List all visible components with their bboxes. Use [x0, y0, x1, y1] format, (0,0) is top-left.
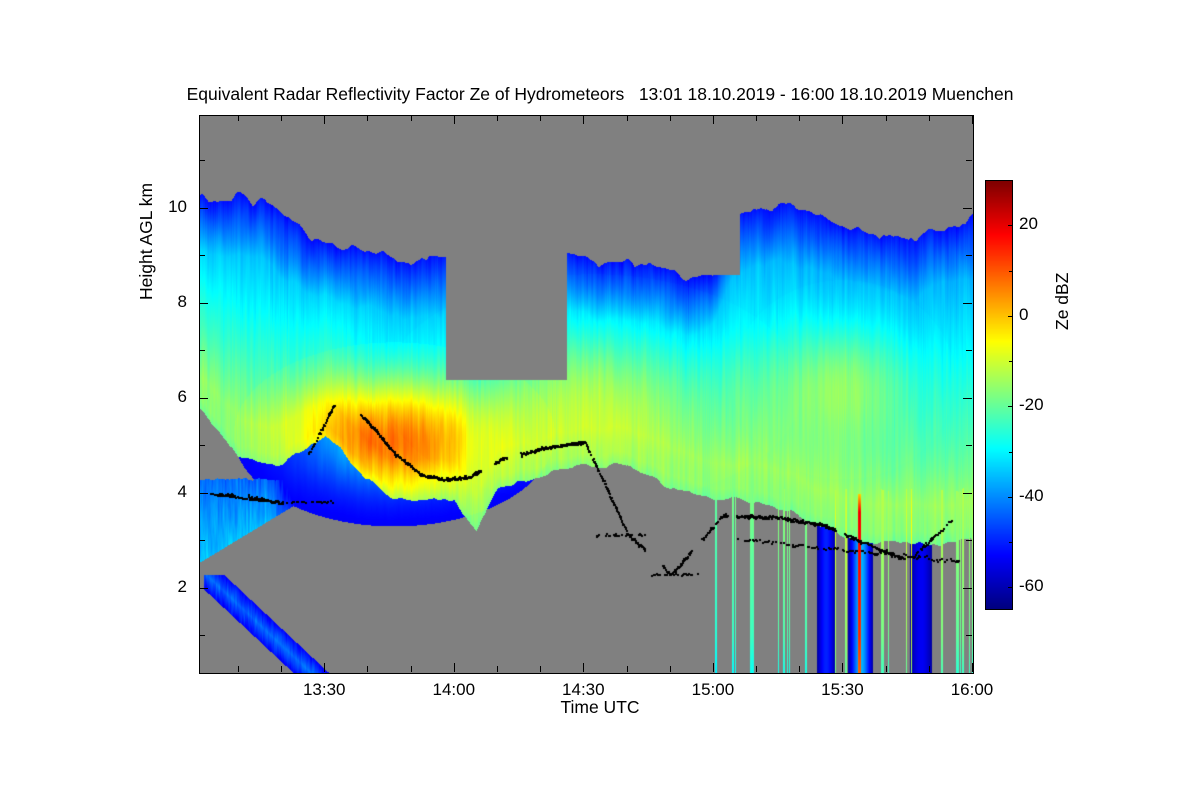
- y-tick-major: [199, 208, 208, 209]
- x-tick-minor: [670, 666, 671, 672]
- x-tick-minor: [756, 666, 757, 672]
- colorbar-tick-minor: [1009, 271, 1013, 272]
- y-tick-minor: [199, 160, 205, 161]
- y-tick-minor: [199, 445, 205, 446]
- x-tick-minor: [411, 115, 412, 121]
- x-tick-minor: [497, 115, 498, 121]
- x-tick-minor: [497, 666, 498, 672]
- colorbar-tick-minor: [1009, 180, 1013, 181]
- y-tick-major: [199, 493, 208, 494]
- y-tick-minor: [966, 350, 972, 351]
- x-tick-minor: [367, 115, 368, 121]
- y-tick-minor: [199, 540, 205, 541]
- x-tick-minor: [670, 115, 671, 121]
- x-tick-major: [583, 663, 584, 672]
- plot-area: [199, 115, 974, 674]
- y-tick-label: 2: [137, 577, 187, 597]
- y-tick-minor: [966, 160, 972, 161]
- x-tick-major: [972, 663, 973, 672]
- x-tick-label: 15:30: [802, 680, 882, 700]
- y-tick-major: [199, 588, 208, 589]
- y-tick-label: 8: [137, 292, 187, 312]
- colorbar-tick-label: -40: [1019, 486, 1044, 506]
- x-tick-major: [454, 115, 455, 124]
- y-tick-minor: [966, 445, 972, 446]
- colorbar-gradient: [985, 180, 1013, 610]
- x-tick-minor: [756, 115, 757, 121]
- colorbar-tick-minor: [1009, 452, 1013, 453]
- x-tick-minor: [929, 666, 930, 672]
- colorbar-tick: [1008, 406, 1013, 407]
- x-tick-label: 13:30: [284, 680, 364, 700]
- x-tick-minor: [238, 666, 239, 672]
- x-tick-minor: [540, 666, 541, 672]
- x-tick-major: [713, 663, 714, 672]
- x-tick-label: 15:00: [673, 680, 753, 700]
- y-tick-minor: [199, 635, 205, 636]
- y-tick-major: [199, 303, 208, 304]
- y-tick-minor: [966, 255, 972, 256]
- y-tick-label: 4: [137, 482, 187, 502]
- colorbar-title: Ze dBZ: [1052, 273, 1073, 330]
- y-tick-minor: [199, 255, 205, 256]
- page-title: Equivalent Radar Reflectivity Factor Ze …: [0, 84, 1200, 105]
- x-tick-minor: [281, 666, 282, 672]
- colorbar-tick-label: 0: [1019, 305, 1028, 325]
- x-tick-minor: [799, 666, 800, 672]
- reflectivity-heatmap: [200, 116, 973, 673]
- x-tick-major: [842, 663, 843, 672]
- colorbar-tick-label: 20: [1019, 214, 1038, 234]
- x-tick-label: 14:00: [414, 680, 494, 700]
- x-tick-minor: [540, 115, 541, 121]
- y-tick-major: [963, 588, 972, 589]
- colorbar-tick: [1008, 587, 1013, 588]
- x-tick-major: [324, 115, 325, 124]
- colorbar-tick: [1008, 225, 1013, 226]
- y-tick-minor: [966, 540, 972, 541]
- y-tick-minor: [966, 635, 972, 636]
- x-tick-major: [583, 115, 584, 124]
- x-tick-minor: [238, 115, 239, 121]
- x-tick-minor: [886, 666, 887, 672]
- x-tick-minor: [929, 115, 930, 121]
- x-tick-major: [454, 663, 455, 672]
- x-tick-minor: [367, 666, 368, 672]
- y-tick-minor: [199, 350, 205, 351]
- x-tick-major: [972, 115, 973, 124]
- x-tick-minor: [411, 666, 412, 672]
- colorbar-tick: [1008, 316, 1013, 317]
- x-tick-minor: [799, 115, 800, 121]
- colorbar-tick: [1008, 497, 1013, 498]
- y-tick-label: 6: [137, 387, 187, 407]
- x-tick-minor: [281, 115, 282, 121]
- colorbar-tick-label: -60: [1019, 576, 1044, 596]
- x-tick-minor: [627, 666, 628, 672]
- colorbar: [985, 180, 1013, 610]
- x-axis-title: Time UTC: [0, 697, 1200, 718]
- radar-reflectivity-figure: Equivalent Radar Reflectivity Factor Ze …: [0, 0, 1200, 800]
- x-tick-label: 14:30: [543, 680, 623, 700]
- colorbar-tick-minor: [1009, 361, 1013, 362]
- colorbar-tick-label: -20: [1019, 395, 1044, 415]
- y-tick-major: [963, 303, 972, 304]
- y-tick-major: [963, 398, 972, 399]
- y-tick-label: 10: [137, 197, 187, 217]
- x-tick-label: 16:00: [932, 680, 1012, 700]
- colorbar-tick-minor: [1009, 542, 1013, 543]
- x-tick-minor: [627, 115, 628, 121]
- x-tick-major: [713, 115, 714, 124]
- x-tick-major: [842, 115, 843, 124]
- x-tick-major: [324, 663, 325, 672]
- y-tick-major: [963, 208, 972, 209]
- y-tick-major: [963, 493, 972, 494]
- x-tick-minor: [886, 115, 887, 121]
- y-tick-major: [199, 398, 208, 399]
